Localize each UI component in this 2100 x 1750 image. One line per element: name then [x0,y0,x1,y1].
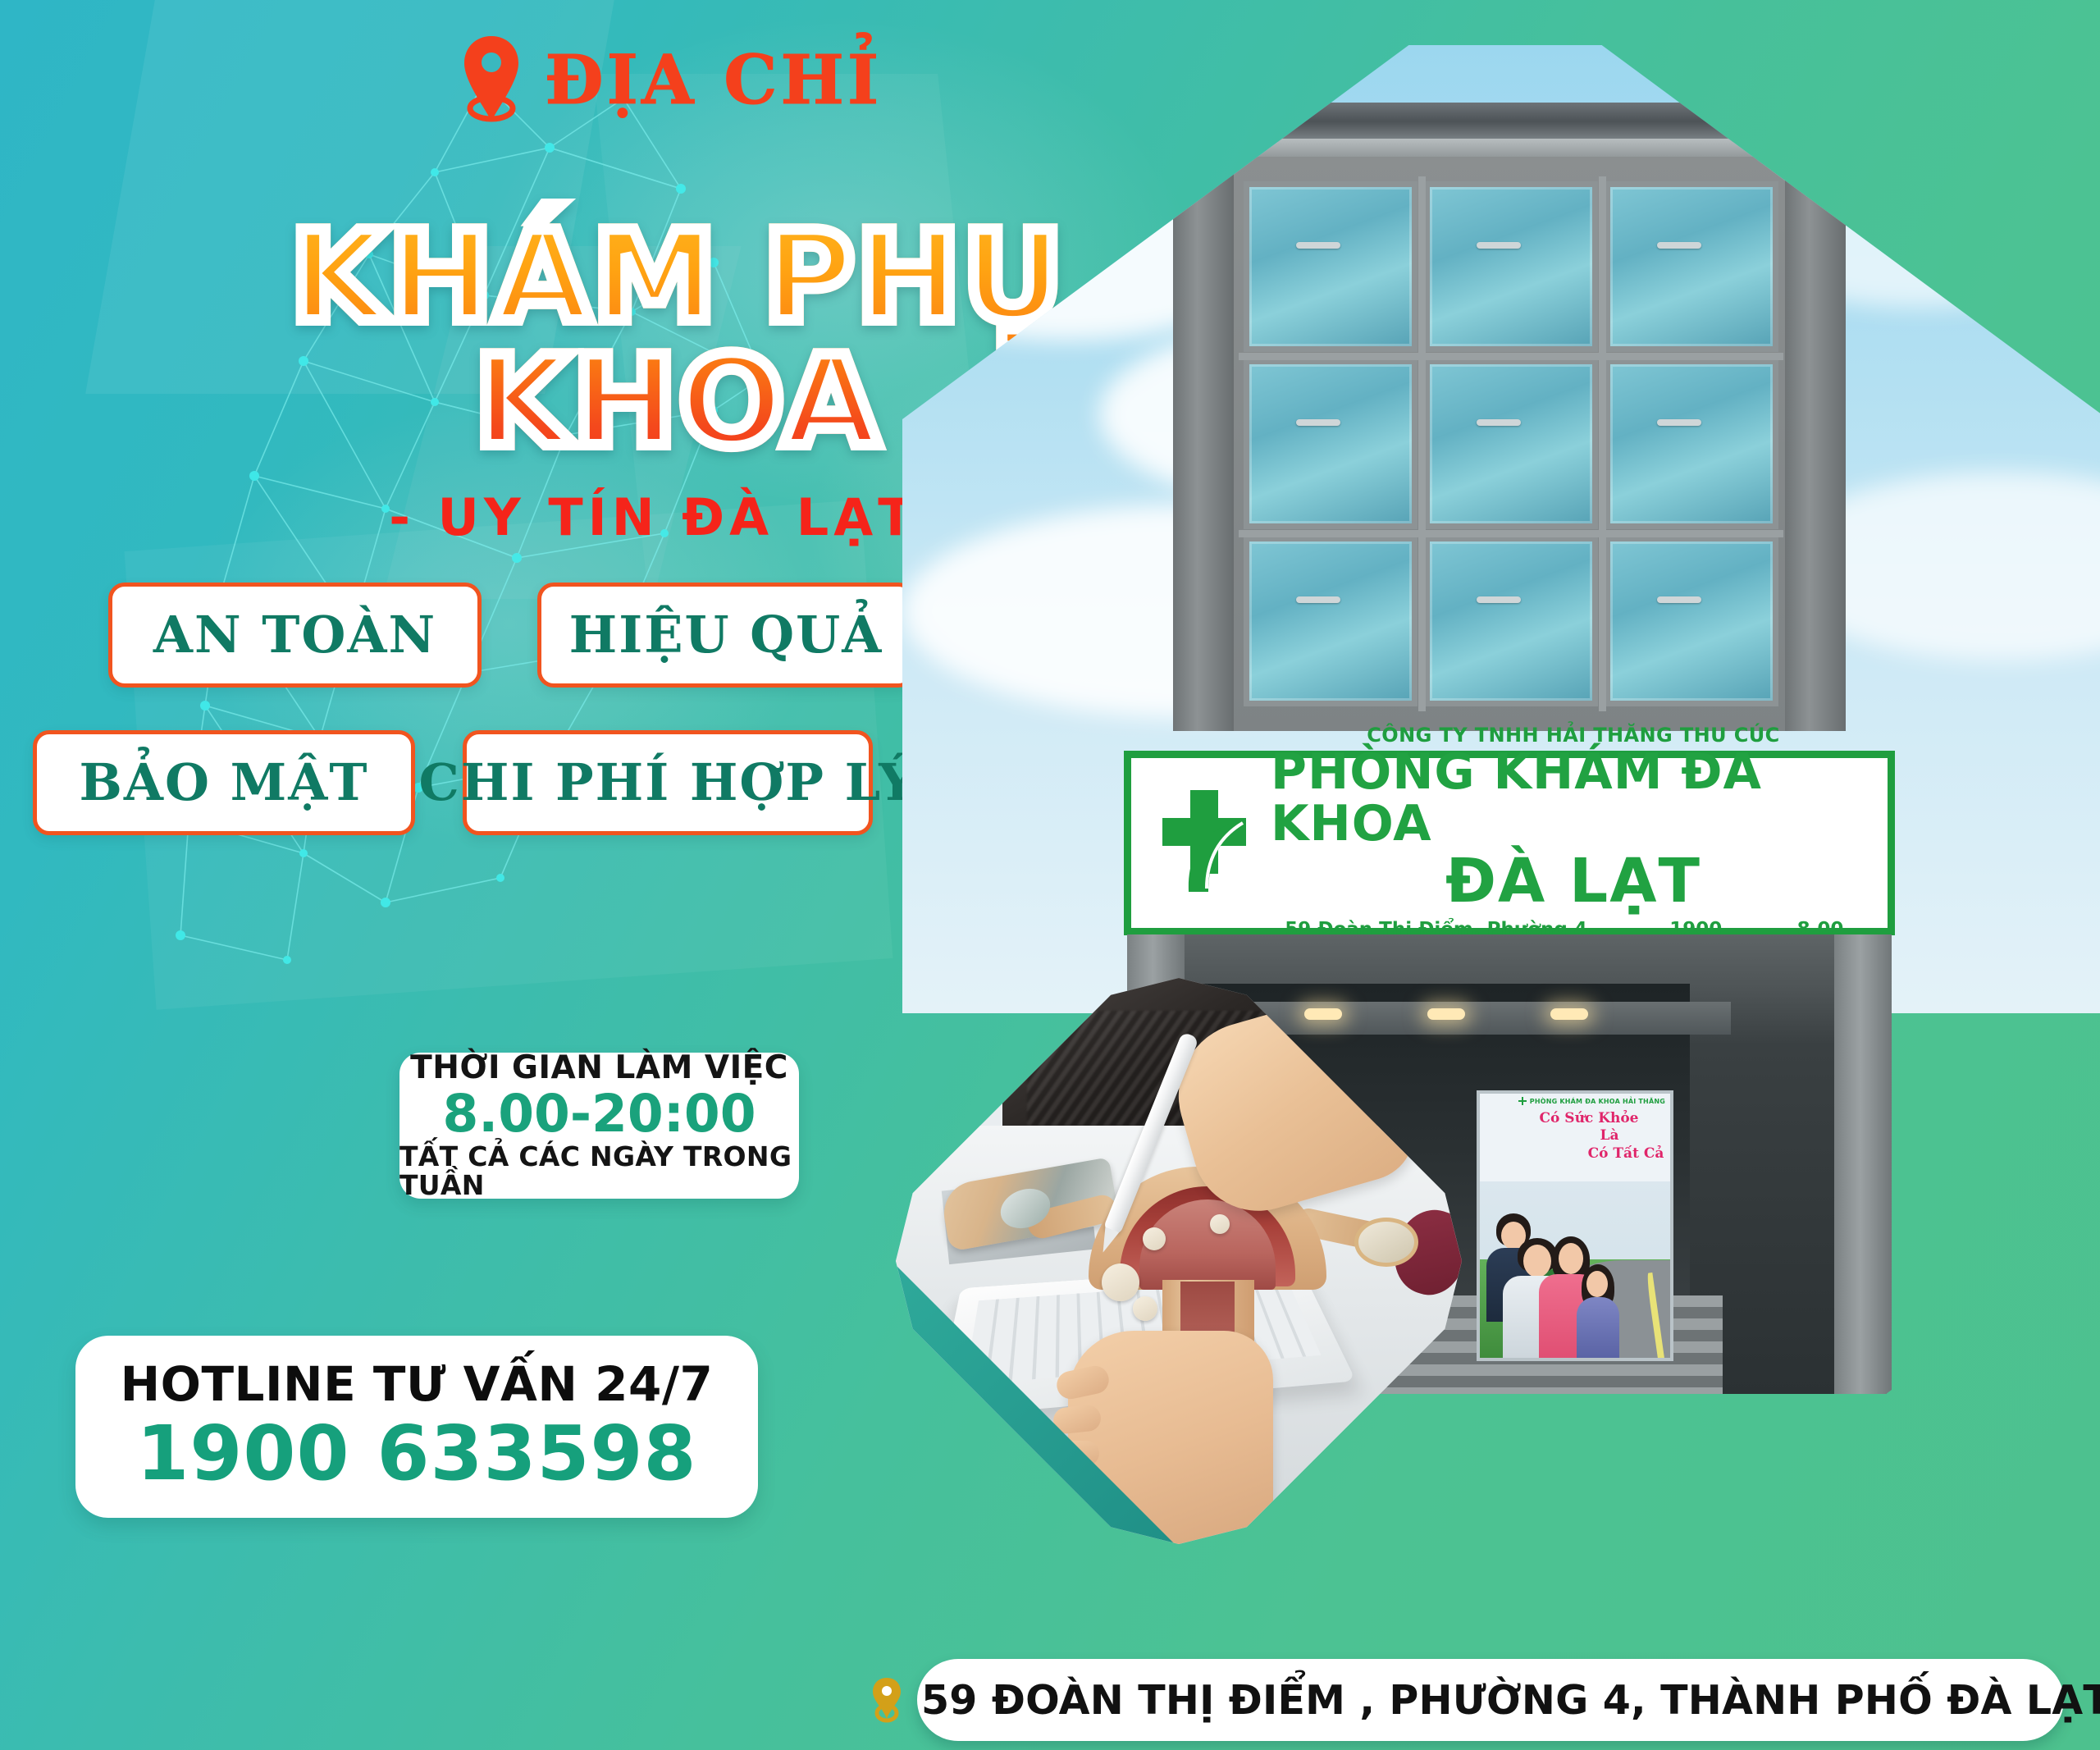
poster-person-head [1523,1245,1551,1277]
fibroid-nodule [1143,1227,1166,1250]
window-mullion [1418,176,1426,711]
poster-brand-row: PHÒNG KHÁM ĐA KHOA HẢI THĂNG [1480,1094,1670,1105]
window-pane [1424,359,1598,529]
hotline-title: HOTLINE TƯ VẤN 24/7 [121,1359,714,1411]
window-pane [1424,536,1598,706]
address-bar[interactable]: 59 ĐOÀN THỊ ĐIỂM , PHƯỜNG 4, THÀNH PHỐ Đ… [917,1659,2064,1741]
window-pane [1244,181,1417,352]
window-pane [1244,536,1417,706]
fibroid-nodule [1133,1296,1157,1321]
window-handle [1296,596,1340,603]
working-hours-card: THỜI GIAN LÀM VIỆC 8.00-20:00 TẤT CẢ CÁC… [399,1053,799,1199]
hotline-card[interactable]: HOTLINE TƯ VẤN 24/7 1900 633598 [75,1336,758,1518]
feature-pill-chi-phi-hop-ly[interactable]: CHI PHÍ HỢP LÝ [463,730,873,835]
working-hours-note: TẤT CẢ CÁC NGÀY TRONG TUẦN [399,1143,799,1199]
feature-label: HIỆU QUẢ [569,610,883,660]
poster-person-body [1577,1297,1619,1358]
ceiling-lamp [1427,1008,1465,1020]
poster-person-head [1559,1243,1583,1274]
window-handle [1296,242,1340,249]
hotline-number[interactable]: 1900 633598 [136,1412,696,1495]
working-hours-value: 8.00-20:00 [442,1087,756,1141]
feature-pill-an-toan[interactable]: AN TOÀN [108,583,482,688]
entrance-pillar [1834,934,1892,1394]
working-hours-title: THỜI GIAN LÀM VIỆC [410,1052,788,1085]
poster-brand-text: PHÒNG KHÁM ĐA KHOA HẢI THĂNG [1530,1098,1665,1105]
sign-clinic-line2: ĐÀ LẠT [1445,850,1701,914]
window-pane [1244,359,1417,529]
window-handle [1477,419,1521,426]
window-pane [1605,181,1778,352]
poster-slogan-line2: Là [1480,1127,1665,1145]
sign-clinic-line1: PHÒNG KHÁM ĐA KHOA [1271,747,1876,850]
poster-photo-scene [1480,1181,1670,1358]
address-bar-text: 59 ĐOÀN THỊ ĐIỂM , PHƯỜNG 4, THÀNH PHỐ Đ… [921,1680,2100,1720]
promo-banner: ĐỊA CHỈ KHÁM PHỤ KHOA - UY TÍN ĐÀ LẠT - … [0,0,2100,1750]
window-mullion [1239,530,1783,537]
location-pin-icon [870,1676,903,1724]
window-handle [1477,242,1521,249]
feature-list: AN TOÀN HIỆU QUẢ BẢO MẬT CHI PHÍ HỢP LÝ [108,583,961,878]
window-pane [1605,536,1778,706]
window-pane [1605,359,1778,529]
poster-slogan-line3: Có Tất Cả [1480,1145,1665,1163]
window-handle [1296,419,1340,426]
address-heading-label: ĐỊA CHỈ [545,47,882,114]
window-handle [1477,596,1521,603]
building-column [1173,157,1234,731]
window-pane [1424,181,1598,352]
poster-family-photo [1485,1202,1616,1358]
fibroid-nodule [1210,1214,1230,1234]
fibroid-nodule [1102,1263,1139,1301]
feature-pill-hieu-qua[interactable]: HIỆU QUẢ [537,583,915,688]
feature-label: AN TOÀN [153,610,436,660]
poster-person-head [1586,1271,1608,1297]
window-handle [1657,596,1701,603]
ceiling-lamp [1550,1008,1588,1020]
window-mullion [1599,176,1606,711]
address-heading: ĐỊA CHỈ [459,34,882,126]
medical-cross-icon [1518,1097,1527,1105]
building-column [1785,157,1846,731]
clinic-signboard: CÔNG TY TNHH HẢI THĂNG THU CÚC PHÒNG KHÁ… [1124,751,1895,935]
window-mullion [1239,353,1783,360]
ovary-right [1354,1218,1418,1267]
window-handle [1657,242,1701,249]
feature-pill-bao-mat[interactable]: BẢO MẬT [33,730,415,835]
poster-slogan-line1: Có Sức Khỏe [1480,1110,1665,1127]
ceiling-lamp [1304,1008,1342,1020]
window-handle [1657,419,1701,426]
location-pin-icon [459,34,523,126]
entrance-poster: PHÒNG KHÁM ĐA KHOA HẢI THĂNG Có Sức Khỏe… [1477,1090,1673,1361]
feature-label: BẢO MẬT [80,757,369,808]
medical-cross-leaf-icon [1148,782,1271,905]
poster-slogan: Có Sức Khỏe Là Có Tất Cả [1480,1110,1665,1163]
building-roof [1140,103,1879,142]
feature-label: CHI PHÍ HỢP LÝ [419,757,917,808]
